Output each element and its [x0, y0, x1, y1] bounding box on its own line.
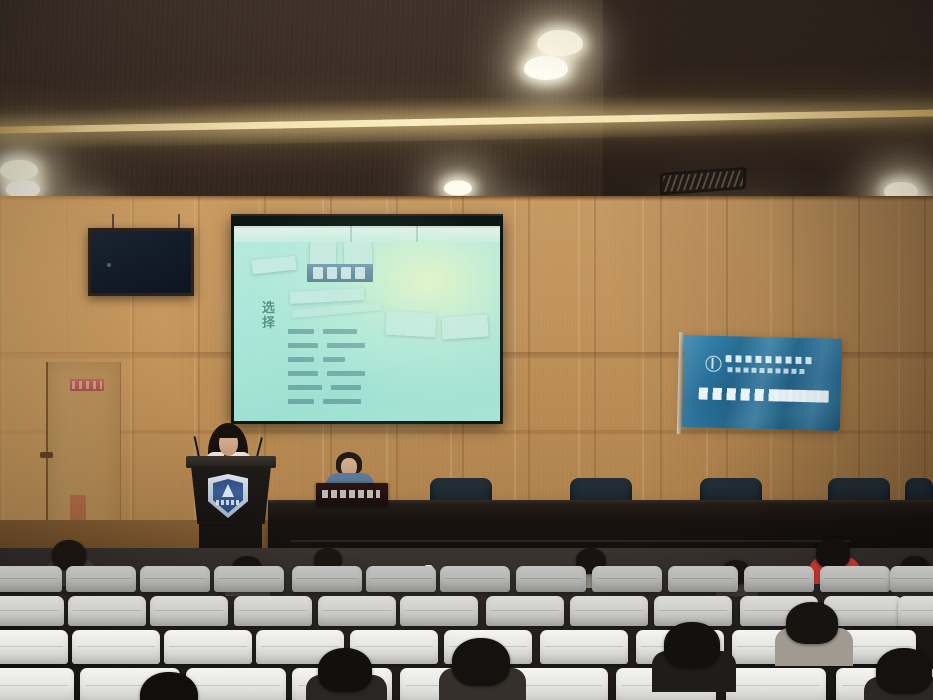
chair-cover	[318, 596, 396, 626]
slide-header-band	[307, 264, 373, 282]
name-placard-text	[322, 490, 380, 498]
slide-bullet-row	[288, 383, 398, 391]
screen-seam-right	[416, 226, 418, 242]
chair-cover	[150, 596, 228, 626]
banner-logo-icon	[705, 356, 721, 372]
slide-photo-a	[251, 256, 296, 275]
name-placard	[316, 483, 388, 506]
chair-cover	[0, 630, 68, 664]
chair-cover	[726, 668, 826, 700]
screen-top-strip	[234, 226, 500, 242]
attendee	[876, 648, 932, 694]
attendee	[816, 538, 850, 568]
wall-banner	[682, 335, 842, 431]
notice-sign	[70, 379, 104, 391]
screen-seam-left	[350, 226, 352, 242]
speaker-fringe	[216, 425, 241, 438]
chair-cover	[366, 566, 436, 592]
chair-cover	[820, 566, 890, 592]
chair-cover	[0, 668, 74, 700]
chair-cover	[0, 596, 64, 626]
panel-indicator-light	[107, 263, 111, 267]
attendee-head	[664, 622, 720, 668]
attendee	[140, 672, 198, 700]
attendee-head	[876, 648, 932, 694]
chair-cover	[0, 566, 62, 592]
slide-bullet-list	[288, 327, 398, 411]
chair-cover	[164, 630, 252, 664]
attendee-head	[318, 648, 372, 692]
chair-cover	[486, 596, 564, 626]
attendee	[452, 638, 510, 686]
chair-cover	[234, 596, 312, 626]
banner-org-line	[725, 355, 815, 364]
head-table-skirt-seam	[290, 540, 850, 542]
slide-bullet-row	[288, 369, 398, 377]
chair-cover	[186, 668, 286, 700]
chair-cover	[540, 630, 628, 664]
slide-header-glyph-4	[355, 267, 365, 279]
chair-cover	[68, 596, 146, 626]
wall-display-panel	[88, 228, 194, 296]
chair-cover	[890, 566, 933, 592]
attendee-head	[786, 602, 838, 644]
chair-cover	[516, 566, 586, 592]
chair-cover	[744, 566, 814, 592]
slide-bullet-row	[288, 397, 398, 405]
attendee	[664, 622, 720, 668]
attendee	[786, 602, 838, 644]
chair-cover	[214, 566, 284, 592]
chair-cover	[898, 596, 933, 626]
chair-cover	[440, 566, 510, 592]
slide-photo-g	[292, 302, 382, 318]
slide-header-glyph-1	[313, 267, 323, 279]
chair-cover	[140, 566, 210, 592]
slide-bullet-row	[288, 341, 398, 349]
banner-sub-line	[727, 367, 807, 374]
slide-title: 选择	[262, 300, 278, 330]
slide-photo-d	[290, 288, 365, 304]
slide-header-glyph-3	[341, 267, 351, 279]
chair-cover	[400, 596, 478, 626]
chair-cover	[292, 566, 362, 592]
auditorium-photo: 选择 “企业青年号” 社会实践队	[0, 0, 933, 700]
banner-slogan-line-2	[775, 389, 827, 402]
attendee-head	[452, 638, 510, 686]
fire-equipment-sign	[70, 495, 86, 521]
slide-photo-f	[441, 314, 488, 339]
slide-header-glyph-2	[327, 267, 337, 279]
chair-cover	[592, 566, 662, 592]
chair-cover	[570, 596, 648, 626]
attendee-head	[140, 672, 198, 700]
chair-cover	[72, 630, 160, 664]
slide-bullet-row	[288, 355, 398, 363]
podium-emblem-text	[216, 500, 240, 505]
door-handle[interactable]	[40, 452, 53, 458]
attendee-head	[816, 538, 850, 568]
chair-cover	[66, 566, 136, 592]
chair-cover	[668, 566, 738, 592]
attendee	[318, 648, 372, 692]
slide-bullet-row	[288, 327, 398, 335]
